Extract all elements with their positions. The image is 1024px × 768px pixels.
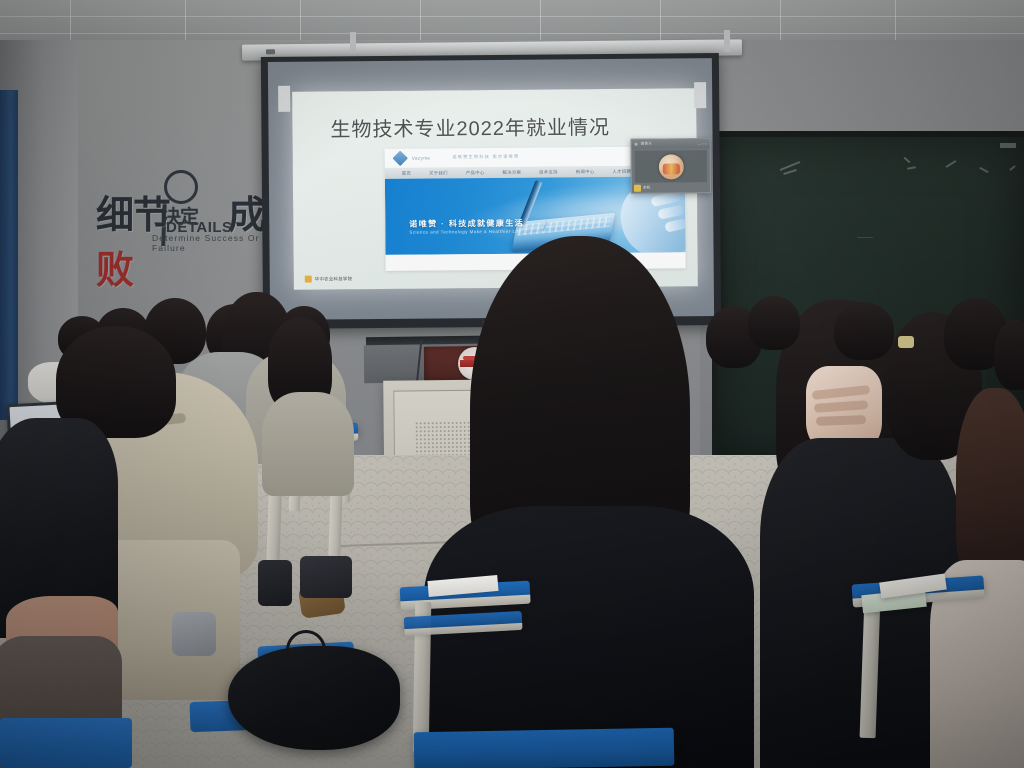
wall-slogan: 细节成败 决定 DETAILS Determine Success Or Fai… (96, 170, 276, 246)
chair-back (0, 718, 132, 768)
taskbar-chip-label: 华中农业科技学院 (315, 276, 353, 282)
floating-window-footer: 本机 (634, 184, 650, 192)
nav-item-4: 技术支持 (539, 169, 558, 175)
trouser-leg (258, 560, 292, 606)
blackboard-tag (1000, 143, 1016, 148)
student-body (262, 392, 354, 496)
floating-window-titlebar[interactable]: 摄像头 — □ × (632, 139, 710, 149)
floating-window-footer-label: 本机 (643, 185, 650, 190)
slide-title: 生物技术专业2022年就业情况 (330, 111, 610, 142)
floating-camera-window[interactable]: 摄像头 — □ × 本机 (631, 138, 711, 194)
desk-bottom-front (414, 728, 675, 768)
slogan-char-4: 败 (96, 248, 133, 292)
pcr-plate-wells (518, 216, 612, 236)
slogan-english-subtitle: Determine Success Or Failure (152, 233, 276, 253)
student-head (834, 302, 894, 360)
black-backpack (228, 646, 400, 750)
slogan-char-3: 成 (228, 193, 265, 237)
hero-headline-english: Science and Technology Make a Healthier … (409, 229, 521, 235)
device-icon (634, 184, 641, 191)
nav-item-2: 产品中心 (466, 170, 485, 176)
slide-taskbar-chip[interactable]: 华中农业科技学院 (302, 274, 356, 283)
roller-indicator-icon (266, 49, 275, 54)
slogan-char-1: 细 (96, 193, 133, 237)
finger-line (816, 415, 866, 426)
vazyme-logo-icon (392, 151, 408, 167)
student-head (748, 296, 800, 350)
website-logo-text: Vazyme (412, 156, 431, 161)
website-logo-chinese: 诺唯赞生物科技 南京诺唯赞 (452, 154, 519, 161)
roller-bracket-left (350, 32, 356, 54)
floating-window-body (635, 150, 707, 183)
screen-tab-right (694, 82, 706, 108)
camera-preview-avatar (658, 154, 683, 179)
window-controls-icon[interactable]: — □ × (697, 142, 706, 146)
student-head-right-c (956, 388, 1024, 584)
shoe-light (172, 612, 216, 656)
nav-item-5: 新闻中心 (576, 169, 595, 175)
left-curtain-strip (0, 90, 18, 420)
classroom-photo: 细节成败 决定 DETAILS Determine Success Or Fai… (0, 0, 1024, 768)
nav-item-6: 人才招聘 (612, 168, 631, 174)
nav-item-1: 关于我们 (429, 170, 448, 176)
screen-tab-left (278, 86, 290, 112)
folder-icon (305, 276, 312, 283)
nav-item-3: 解决方案 (502, 169, 521, 175)
floating-window-title: 摄像头 (641, 142, 653, 147)
window-icon (635, 143, 638, 146)
roller-bracket-right (724, 30, 730, 52)
hair-clip (898, 336, 914, 348)
nav-item-0: 首页 (402, 170, 411, 176)
trouser-leg (300, 556, 352, 598)
